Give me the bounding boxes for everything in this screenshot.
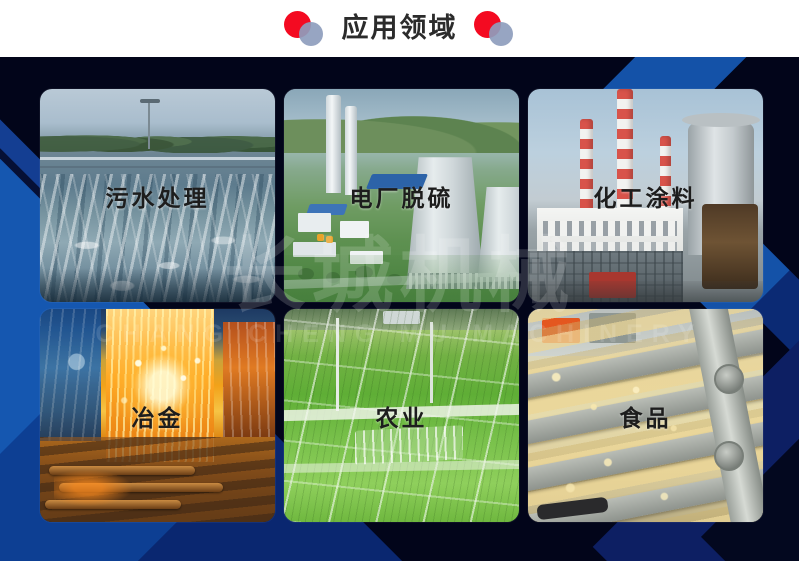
card-label-metallurgy: 冶金 — [40, 399, 275, 433]
page-header: 应用领域 — [0, 0, 799, 57]
card-label-food: 食品 — [528, 399, 763, 433]
card-label-chemical-coatings: 化工涂料 — [528, 179, 763, 213]
card-label-power-plant-desulfurization: 电厂脱硫 — [284, 179, 519, 213]
card-agriculture[interactable]: 农业 — [284, 309, 519, 522]
card-power-plant-desulfurization[interactable]: 电厂脱硫 — [284, 89, 519, 302]
cards-stage: 污水处理 电厂脱硫 — [0, 57, 799, 561]
dual-circle-decoration-icon — [284, 11, 328, 47]
card-label-agriculture: 农业 — [284, 399, 519, 433]
page-title: 应用领域 — [342, 15, 458, 42]
card-metallurgy[interactable]: 冶金 — [40, 309, 275, 522]
card-sewage-treatment[interactable]: 污水处理 — [40, 89, 275, 302]
application-cards-grid: 污水处理 电厂脱硫 — [40, 89, 748, 529]
card-chemical-coatings[interactable]: 化工涂料 — [528, 89, 763, 302]
application-fields-banner: 应用领域 污水处理 — [0, 0, 799, 561]
card-label-sewage-treatment: 污水处理 — [40, 179, 275, 213]
card-food[interactable]: 食品 — [528, 309, 763, 522]
dual-circle-decoration-right-icon — [472, 11, 516, 47]
